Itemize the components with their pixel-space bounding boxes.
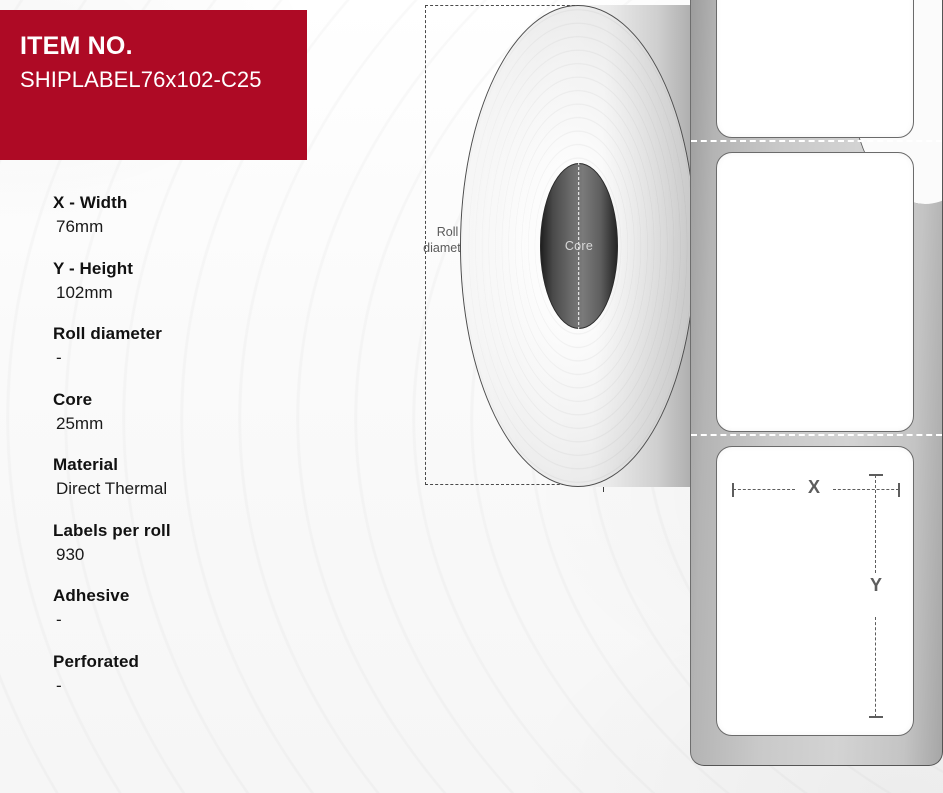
spec-row-roll-diameter: Roll diameter - — [53, 323, 303, 371]
product-spec-page: ITEM NO. SHIPLABEL76x102-C25 X - Width 7… — [0, 0, 943, 793]
label-panel-top — [716, 0, 914, 138]
dimension-x-cap-left — [732, 483, 734, 497]
spec-row-adhesive: Adhesive - — [53, 585, 303, 633]
dimension-y-cap-top — [869, 474, 883, 476]
dimension-y-letter: Y — [857, 575, 895, 596]
dimension-x-letter: X — [795, 477, 833, 498]
label-strip: X Y — [690, 0, 943, 766]
dimension-x-line-right — [833, 489, 899, 490]
spec-label-adhesive: Adhesive — [53, 585, 303, 608]
spec-value-core: 25mm — [53, 412, 303, 437]
spec-value-material: Direct Thermal — [53, 477, 303, 502]
spec-label-material: Material — [53, 454, 303, 477]
label-panel-bottom: X Y — [716, 446, 914, 736]
spec-label-perforated: Perforated — [53, 651, 303, 674]
perforation-line-1 — [691, 140, 942, 142]
perforation-line-2 — [691, 434, 942, 436]
spec-label-roll-diameter: Roll diameter — [53, 323, 303, 346]
spec-label-labels-per-roll: Labels per roll — [53, 520, 303, 543]
label-panel-middle — [716, 152, 914, 432]
spec-row-material: Material Direct Thermal — [53, 454, 303, 502]
spec-value-perforated: - — [53, 674, 303, 699]
dimension-y-line-bottom — [875, 617, 876, 717]
label-roll-diagram: Roll diameter Core — [400, 0, 943, 793]
dimension-y-cap-bottom — [869, 716, 883, 718]
spec-row-perforated: Perforated - — [53, 651, 303, 699]
spec-label-core: Core — [53, 389, 303, 412]
core-label: Core — [541, 164, 617, 328]
spec-value-roll-diameter: - — [53, 346, 303, 371]
spec-value-adhesive: - — [53, 608, 303, 633]
spec-value-height: 102mm — [53, 281, 303, 306]
dimension-y-callout: Y — [869, 471, 883, 723]
spec-value-width: 76mm — [53, 215, 303, 240]
specification-list: X - Width 76mm Y - Height 102mm Roll dia… — [53, 192, 303, 717]
dimension-x-cap-right — [898, 483, 900, 497]
roll-core: Core — [540, 163, 618, 329]
item-number-code: SHIPLABEL76x102-C25 — [20, 67, 307, 92]
spec-row-width: X - Width 76mm — [53, 192, 303, 240]
item-number-title: ITEM NO. — [20, 32, 307, 61]
spec-row-core: Core 25mm — [53, 389, 303, 437]
spec-row-height: Y - Height 102mm — [53, 258, 303, 306]
spec-label-width: X - Width — [53, 192, 303, 215]
dimension-x-line-left — [733, 489, 795, 490]
spec-label-height: Y - Height — [53, 258, 303, 281]
item-number-banner: ITEM NO. SHIPLABEL76x102-C25 — [0, 10, 307, 160]
dimension-y-line-top — [875, 475, 876, 573]
spec-row-labels-per-roll: Labels per roll 930 — [53, 520, 303, 568]
spec-value-labels-per-roll: 930 — [53, 543, 303, 568]
